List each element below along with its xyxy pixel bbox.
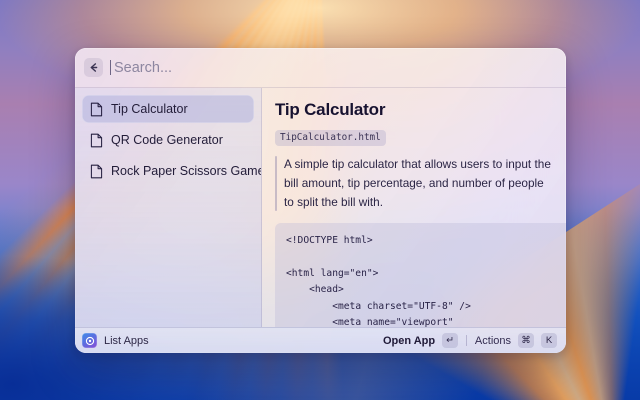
filename-badge: TipCalculator.html: [275, 130, 386, 146]
desktop-wallpaper: Tip Calculator QR Code Generator Rock Pa…: [0, 0, 640, 400]
document-icon: [90, 164, 103, 179]
source-code-preview[interactable]: <!DOCTYPE html> <html lang="en"> <head> …: [275, 223, 566, 327]
enter-key-cap[interactable]: ↵: [442, 333, 458, 348]
open-app-button[interactable]: Open App: [383, 335, 435, 347]
sidebar-item-qr-code-generator[interactable]: QR Code Generator: [82, 126, 254, 154]
app-badge-icon: [82, 333, 97, 348]
command-key-cap[interactable]: ⌘: [518, 333, 534, 348]
app-description: A simple tip calculator that allows user…: [275, 155, 551, 212]
k-key-cap[interactable]: K: [541, 333, 557, 348]
search-input[interactable]: [114, 57, 554, 79]
sidebar-item-label: QR Code Generator: [111, 133, 223, 147]
window-body: Tip Calculator QR Code Generator Rock Pa…: [75, 88, 566, 327]
text-cursor: [110, 60, 111, 75]
app-name-label: List Apps: [104, 335, 383, 347]
launcher-window: Tip Calculator QR Code Generator Rock Pa…: [75, 48, 566, 353]
sidebar-item-label: Tip Calculator: [111, 102, 188, 116]
footer-toolbar: List Apps Open App ↵ Actions ⌘ K: [75, 327, 566, 353]
actions-button[interactable]: Actions: [475, 335, 511, 347]
footer-divider: [466, 335, 467, 346]
footer-actions: Open App ↵ Actions ⌘ K: [383, 333, 557, 348]
detail-pane: Tip Calculator TipCalculator.html A simp…: [262, 88, 566, 327]
app-list-sidebar[interactable]: Tip Calculator QR Code Generator Rock Pa…: [75, 88, 262, 327]
sidebar-item-tip-calculator[interactable]: Tip Calculator: [82, 95, 254, 123]
sidebar-item-label: Rock Paper Scissors Game: [111, 164, 262, 178]
sidebar-item-rock-paper-scissors-game[interactable]: Rock Paper Scissors Game: [82, 157, 254, 185]
back-arrow-icon[interactable]: [84, 58, 103, 77]
document-icon: [90, 133, 103, 148]
page-title: Tip Calculator: [275, 100, 566, 120]
search-bar: [75, 48, 566, 88]
document-icon: [90, 102, 103, 117]
